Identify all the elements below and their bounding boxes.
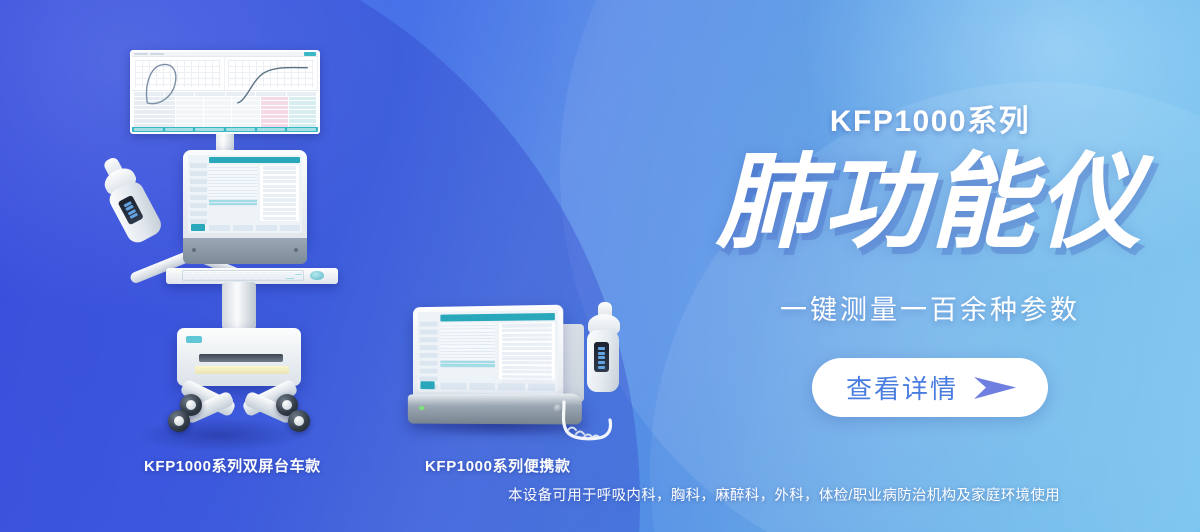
printer-module — [177, 328, 301, 386]
portable-primary-button — [420, 381, 434, 389]
product-hero-banner: KFP1000系列 肺功能仪 一键测量一百余种参数 查看详情 KFP1000系列… — [0, 0, 1200, 532]
flow-volume-loop-chart — [132, 57, 225, 90]
console-data-grid — [209, 165, 257, 221]
trackball — [310, 271, 324, 280]
portable-screen-content — [418, 310, 558, 394]
portable-sidebar — [420, 322, 438, 381]
portable-button-row — [440, 382, 555, 391]
portable-screen — [413, 305, 563, 400]
lower-console-screen — [188, 155, 302, 233]
portable-tabbar — [440, 313, 555, 322]
view-details-label: 查看详情 — [846, 369, 958, 406]
caster-wheel — [288, 410, 310, 432]
volume-time-chart — [225, 57, 318, 90]
printer-paper — [195, 366, 289, 374]
spirometer-handle-portable — [578, 302, 628, 406]
coiled-cord — [550, 400, 622, 444]
spirometer-handle-trolley — [85, 147, 178, 257]
printer-output-slot — [199, 354, 283, 362]
flow-volume-charts — [132, 57, 318, 91]
console-primary-button — [191, 224, 205, 231]
page-title: 肺功能仪 — [660, 150, 1200, 256]
portable-data-grid — [440, 323, 495, 379]
play-arrow-icon — [972, 375, 1018, 401]
usage-disclaimer: 本设备可用于呼吸内科，胸科，麻醉科，外科，体检/职业病防治机构及家庭环境使用 — [508, 484, 1060, 505]
trolley-base — [164, 386, 314, 430]
caption-trolley: KFP1000系列双屏台车款 — [144, 455, 321, 476]
console-button-row — [209, 225, 300, 231]
printer-status-led — [186, 336, 202, 343]
keyboard — [182, 270, 304, 281]
console-housing — [183, 238, 307, 264]
caster-wheel — [168, 410, 190, 432]
cta-container: 查看详情 — [660, 358, 1200, 417]
product-series-label: KFP1000系列 — [0, 96, 1200, 140]
handle-display — [594, 342, 609, 372]
tagline: 一键测量一百余种参数 — [660, 288, 1200, 327]
console-detail-pane — [260, 165, 299, 221]
power-led — [419, 406, 425, 410]
console-tabbar — [209, 157, 300, 163]
product-image-portable — [400, 296, 640, 446]
caption-portable: KFP1000系列便携款 — [425, 455, 571, 476]
trolley-column — [222, 282, 256, 330]
portable-detail-pane — [499, 322, 555, 379]
background-circle-center — [560, 0, 1200, 532]
view-details-button[interactable]: 查看详情 — [812, 358, 1048, 417]
console-sidebar — [190, 163, 207, 223]
lower-console — [183, 150, 307, 246]
